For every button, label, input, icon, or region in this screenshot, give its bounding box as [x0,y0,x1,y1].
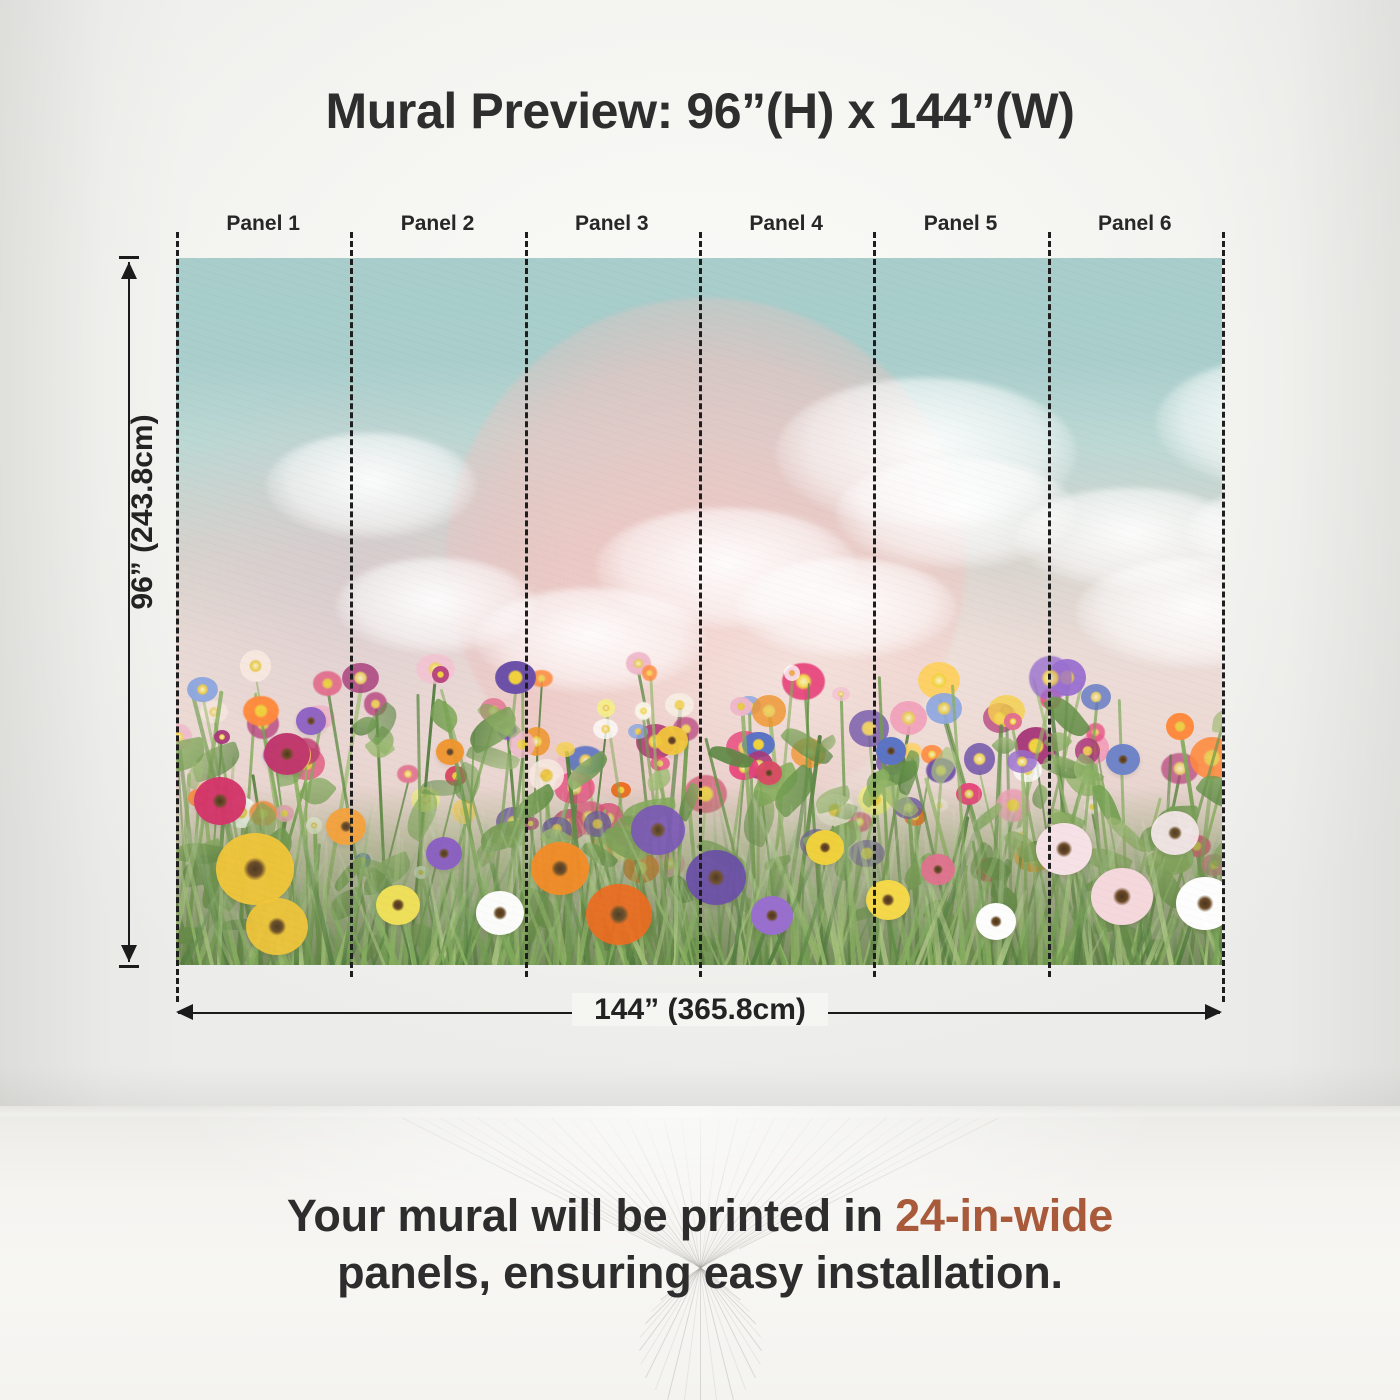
caption-line-1: Your mural will be printed in 24-in-wide [0,1188,1400,1245]
panel-label-4: Panel 4 [699,212,873,236]
height-arrow-up-icon [121,262,137,279]
panel-divider-0 [176,232,179,1002]
panel-divider-4 [873,232,876,977]
height-tick-bottom [119,965,139,968]
panel-label-5: Panel 5 [874,212,1048,236]
panel-divider-1 [350,232,353,977]
panel-label-3: Panel 3 [525,212,699,236]
caption-line-2: panels, ensuring easy installation. [0,1245,1400,1302]
caption-accent-text: 24-in-wide [895,1190,1113,1241]
wall-shadow-left [0,0,190,1106]
wall-base-shadow [0,1066,1400,1106]
installation-caption: Your mural will be printed in 24-in-wide… [0,1188,1400,1301]
mural-preview-scene: Mural Preview: 96”(H) x 144”(W) Panel 1P… [0,0,1400,1400]
caption-line-1-text: Your mural will be printed in [287,1190,895,1241]
panel-divider-2 [525,232,528,977]
panel-divider-3 [699,232,702,977]
panel-divider-6 [1222,232,1225,1002]
panel-label-1: Panel 1 [176,212,350,236]
height-arrow-down-icon [121,945,137,962]
panel-divider-5 [1048,232,1051,977]
panel-label-6: Panel 6 [1048,212,1222,236]
height-dimension-label: 96” (243.8cm) [126,362,160,662]
wall-shadow-right [1200,0,1400,1106]
width-dimension-label: 144” (365.8cm) [0,993,1400,1027]
height-tick-top [119,256,139,259]
page-title: Mural Preview: 96”(H) x 144”(W) [0,82,1400,140]
panel-label-2: Panel 2 [351,212,525,236]
width-dimension-text: 144” (365.8cm) [572,993,828,1026]
